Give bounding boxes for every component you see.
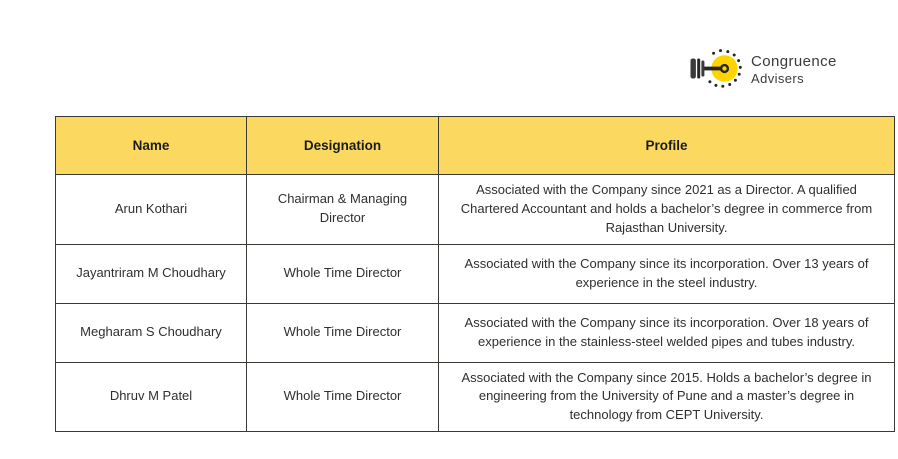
- cell-designation: Whole Time Director: [247, 244, 439, 303]
- column-header-designation: Designation: [247, 117, 439, 175]
- table-header-row: Name Designation Profile: [56, 117, 895, 175]
- brand-name-line1: Congruence: [751, 52, 837, 71]
- cell-name: Jayantriram M Choudhary: [56, 244, 247, 303]
- cell-profile: Associated with the Company since 2021 a…: [439, 175, 895, 245]
- brand-name: Congruence Advisers: [751, 52, 837, 88]
- column-header-profile: Profile: [439, 117, 895, 175]
- table-header: Name Designation Profile: [56, 117, 895, 175]
- cell-profile: Associated with the Company since its in…: [439, 244, 895, 303]
- table-row: Jayantriram M Choudhary Whole Time Direc…: [56, 244, 895, 303]
- table-row: Megharam S Choudhary Whole Time Director…: [56, 303, 895, 362]
- brand-name-line2: Advisers: [751, 71, 837, 88]
- cell-name: Dhruv M Patel: [56, 362, 247, 432]
- congruence-key-sun-logo-icon: [686, 48, 742, 92]
- directors-table-container: Name Designation Profile Arun Kothari Ch…: [55, 116, 837, 432]
- cell-designation: Whole Time Director: [247, 362, 439, 432]
- directors-table: Name Designation Profile Arun Kothari Ch…: [55, 116, 895, 432]
- cell-profile: Associated with the Company since 2015. …: [439, 362, 895, 432]
- cell-designation: Whole Time Director: [247, 303, 439, 362]
- column-header-name: Name: [56, 117, 247, 175]
- cell-name: Megharam S Choudhary: [56, 303, 247, 362]
- cell-name: Arun Kothari: [56, 175, 247, 245]
- cell-profile: Associated with the Company since its in…: [439, 303, 895, 362]
- table-body: Arun Kothari Chairman & Managing Directo…: [56, 175, 895, 432]
- brand-logo: Congruence Advisers: [686, 48, 837, 92]
- table-row: Arun Kothari Chairman & Managing Directo…: [56, 175, 895, 245]
- cell-designation: Chairman & Managing Director: [247, 175, 439, 245]
- table-row: Dhruv M Patel Whole Time Director Associ…: [56, 362, 895, 432]
